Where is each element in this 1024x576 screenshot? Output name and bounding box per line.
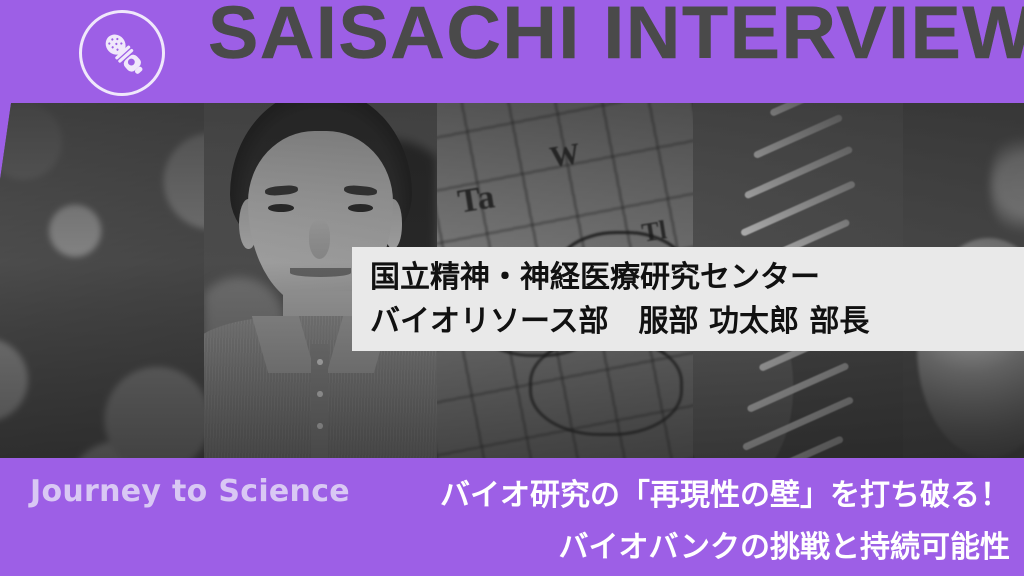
episode-subtitle: バイオ研究の「再現性の壁」を打ち破る！ バイオバンクの挑戦と持続可能性 [330, 470, 1010, 574]
element-symbol: Ta [455, 178, 497, 221]
lab-glassware [529, 337, 683, 435]
element-symbol: W [547, 136, 582, 174]
show-title: SAISACHI INTERVIEW [208, 0, 1024, 70]
portrait-shirt-button [317, 423, 323, 430]
portrait-mouth [290, 268, 351, 277]
portrait-shirt-button [317, 391, 323, 398]
series-label: Journey to Science [30, 474, 350, 509]
subtitle-line-2: バイオバンクの挑戦と持続可能性 [330, 522, 1010, 574]
interview-thumbnail: Ta W Tl [0, 0, 1024, 576]
guest-caption-card: 国立精神・神経医療研究センター バイオリソース部 服部 功太郎 部長 [352, 247, 1024, 351]
portrait-eye-left [268, 204, 294, 212]
panel-microscopy-cells [0, 103, 204, 458]
microphone-icon [99, 29, 151, 81]
microphone-badge [79, 10, 165, 96]
portrait-eye-right [348, 204, 374, 212]
caption-organization: 国立精神・神経医療研究センター [370, 256, 1024, 300]
portrait-nose [309, 220, 330, 259]
portrait-shirt-button [317, 359, 323, 366]
caption-person: バイオリソース部 服部 功太郎 部長 [370, 300, 1024, 344]
subtitle-line-1: バイオ研究の「再現性の壁」を打ち破る！ [330, 470, 1010, 522]
